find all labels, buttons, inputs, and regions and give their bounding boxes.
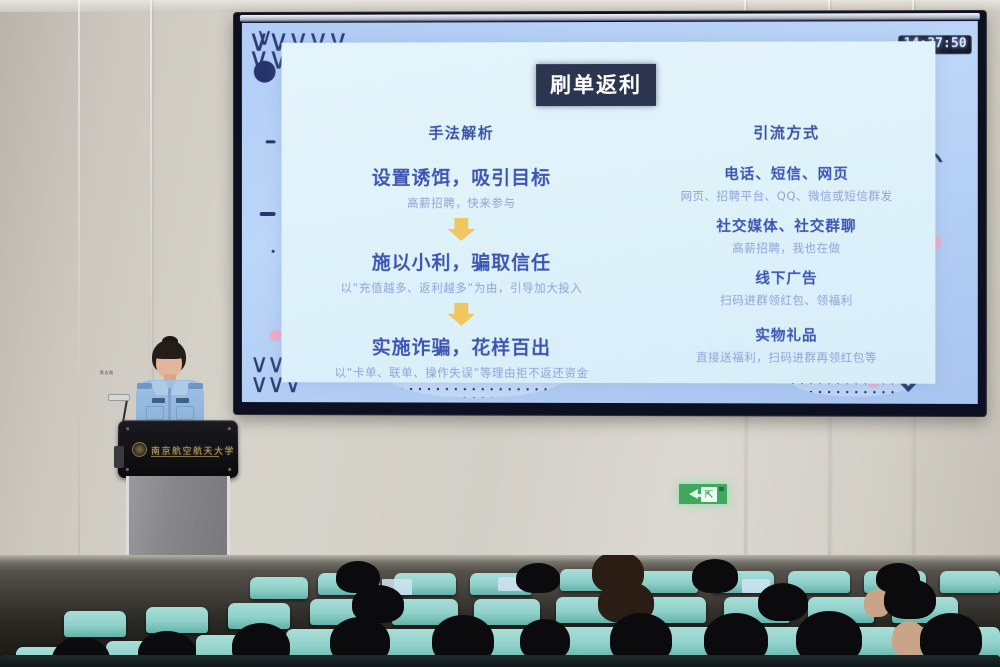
channel-3-title: 线下广告 — [640, 267, 933, 288]
university-name-underline — [151, 456, 219, 457]
floor-edge — [0, 555, 1000, 563]
channel-3-detail: 扫码进群领红包、领福利 — [640, 292, 933, 308]
lectern-side-box — [114, 446, 124, 468]
arrow-tail — [693, 494, 701, 497]
navy-dot-decoration — [272, 250, 275, 253]
left-column: 手法解析 设置诱饵，吸引目标 高薪招聘，快来参与 施以小利，骗取信任 以“充值越… — [297, 122, 626, 381]
seat — [940, 571, 1000, 593]
epaulet-right — [188, 383, 203, 389]
step-2: 施以小利，骗取信任 以“充值越多、返利越多”为由，引导加大投入 — [297, 248, 626, 296]
right-column-heading: 引流方式 — [640, 122, 933, 143]
pink-dot-decoration — [270, 329, 282, 341]
audience-head — [692, 559, 738, 593]
epaulet-left — [137, 383, 152, 389]
lectern-top-panel: 南京航空航天大学 — [118, 420, 239, 478]
name-badge-right — [176, 398, 189, 403]
sign-indicator — [719, 487, 724, 491]
channel-1-detail: 网页、招聘平台、QQ、微信或短信群发 — [640, 188, 933, 204]
seat — [250, 577, 308, 599]
navy-dash-decoration — [260, 212, 276, 216]
navy-dash-decoration — [266, 140, 276, 143]
lecture-hall-scene: ∨∨∨∨∨ ∨∨∨∨∨ ∨∨∨∨ ∨ ∨∨∨ ∨∨∨ ∨ ∨ ∨ — [0, 0, 1000, 667]
projection-screen[interactable]: ∨∨∨∨∨ ∨∨∨∨∨ ∨∨∨∨ ∨ ∨∨∨ ∨∨∨ ∨ ∨ ∨ — [234, 11, 986, 416]
step-1-detail: 高薪招聘，快来参与 — [297, 195, 626, 211]
step-1-title: 设置诱饵，吸引目标 — [297, 163, 626, 190]
right-column: 引流方式 电话、短信、网页 网页、招聘平台、QQ、微信或短信群发 社交媒体、社交… — [640, 122, 933, 377]
channel-2-title: 社交媒体、社交群聊 — [640, 215, 933, 236]
audience-head — [516, 563, 560, 593]
channel-1-title: 电话、短信、网页 — [640, 163, 933, 184]
chest-pocket-left — [146, 406, 164, 420]
channel-2: 社交媒体、社交群聊 高薪招聘，我也在做 — [640, 215, 933, 256]
microphone-nameplate: 陈志刚 — [108, 394, 130, 401]
front-row-shadow — [0, 655, 1000, 667]
hair-fringe — [153, 346, 185, 359]
audience-head — [758, 583, 808, 621]
audience-head — [884, 579, 936, 619]
microphone-label: 陈志刚 — [100, 370, 114, 376]
navy-circle-decoration — [254, 61, 276, 83]
channel-4-detail: 直接送福利，扫码进群再领红包等 — [640, 349, 933, 366]
left-column-heading: 手法解析 — [297, 122, 626, 143]
channel-1: 电话、短信、网页 网页、招聘平台、QQ、微信或短信群发 — [640, 163, 933, 204]
step-3-detail: 以“卡单、联单、操作失误”等理由拒不返还资金 — [297, 364, 626, 381]
step-2-detail: 以“充值越多、返利越多”为由，引导加大投入 — [297, 280, 626, 296]
presentation-slide: ∨∨∨∨∨ ∨∨∨∨∨ ∨∨∨∨ ∨ ∨∨∨ ∨∨∨ ∨ ∨ ∨ — [242, 21, 978, 404]
wall-seam — [78, 0, 80, 600]
emergency-exit-sign: ⇱ — [678, 483, 728, 505]
seat — [146, 607, 208, 633]
university-crest-icon — [132, 442, 147, 457]
audience-area — [0, 555, 1000, 667]
zigzag-decoration: ∨ — [256, 25, 271, 49]
exit-person-icon: ⇱ — [701, 487, 717, 502]
seat — [64, 611, 126, 637]
screen-display-area: ∨∨∨∨∨ ∨∨∨∨∨ ∨∨∨∨ ∨ ∨∨∨ ∨∨∨ ∨ ∨ ∨ — [242, 21, 978, 404]
slide-title: 刷单返利 — [536, 64, 656, 106]
chest-pocket-right — [176, 406, 194, 420]
channel-2-detail: 高薪招聘，我也在做 — [640, 240, 933, 256]
channel-3: 线下广告 扫码进群领红包、领福利 — [640, 267, 933, 308]
step-3-title: 实施诈骗，花样百出 — [297, 332, 626, 360]
channel-4-title: 实物礼品 — [640, 324, 933, 346]
channel-4: 实物礼品 直接送福利，扫码进群再领红包等 — [640, 324, 933, 366]
step-3: 实施诈骗，花样百出 以“卡单、联单、操作失误”等理由拒不返还资金 — [297, 332, 626, 381]
step-1: 设置诱饵，吸引目标 高薪招聘，快来参与 — [297, 163, 626, 211]
step-2-title: 施以小利，骗取信任 — [297, 248, 626, 275]
name-badge-left — [152, 398, 165, 403]
